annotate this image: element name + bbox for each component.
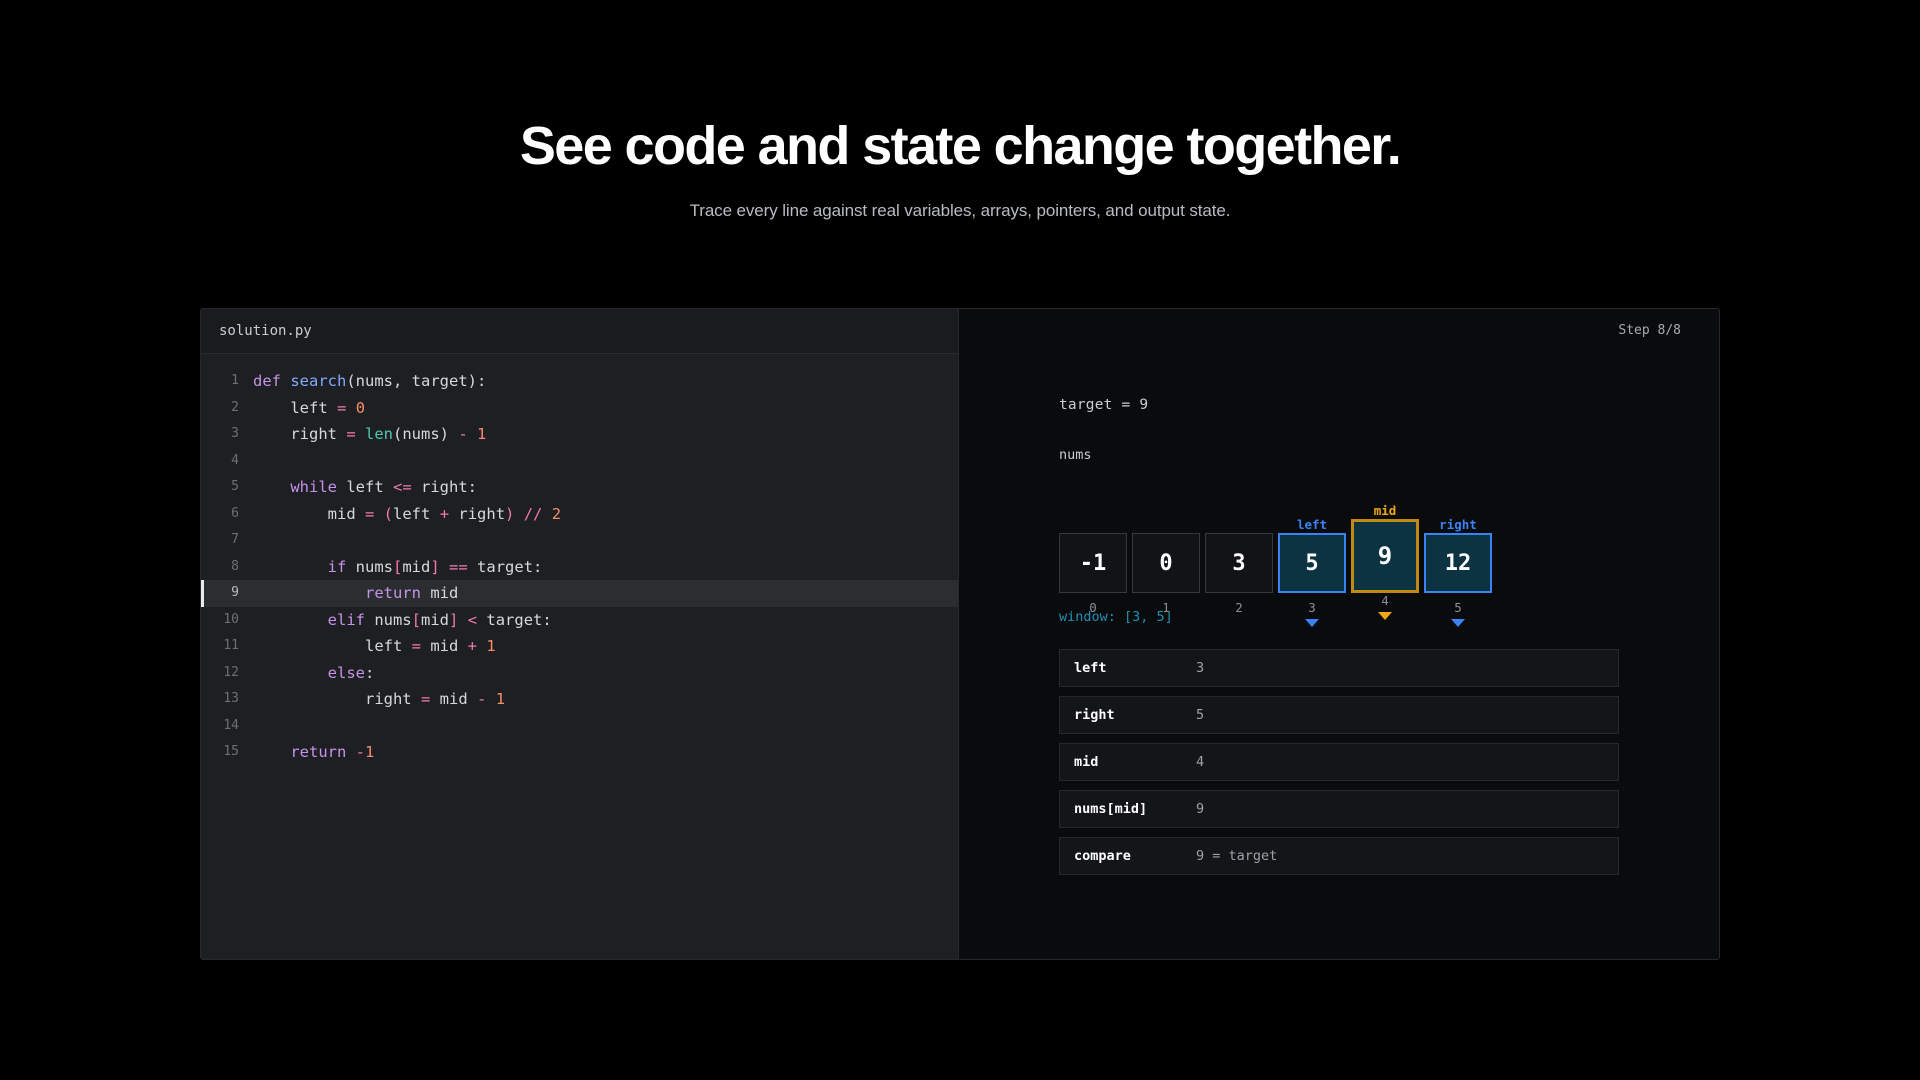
- array-cell-5[interactable]: right12: [1424, 516, 1492, 593]
- variable-name: mid: [1074, 754, 1196, 770]
- active-line-marker: [201, 686, 204, 713]
- index-label: 3: [1308, 600, 1316, 616]
- pointer-label-none: [1089, 516, 1097, 533]
- page-title: See code and state change together.: [0, 118, 1920, 175]
- code-text: return mid: [253, 580, 458, 607]
- line-number: 4: [201, 448, 253, 475]
- pointer-label-right: right: [1439, 516, 1477, 533]
- table-row: mid4: [1059, 743, 1619, 781]
- pointer-arrow-blue-icon: [1305, 619, 1319, 627]
- code-line[interactable]: 3 right = len(nums) - 1: [201, 421, 958, 448]
- index-label: 4: [1381, 593, 1389, 609]
- line-number: 9: [201, 580, 253, 607]
- code-text: while left <= right:: [253, 474, 477, 501]
- array-value: 12: [1424, 533, 1492, 593]
- variable-value: 4: [1196, 754, 1204, 770]
- variable-name: right: [1074, 707, 1196, 723]
- code-editor[interactable]: 1def search(nums, target):2 left = 03 ri…: [201, 354, 958, 959]
- pointer-arrow-blue-icon: [1451, 619, 1465, 627]
- line-number: 6: [201, 501, 253, 528]
- code-text: return -1: [253, 739, 374, 766]
- array-index-3: 3: [1278, 593, 1346, 627]
- array-index-2: 2: [1205, 593, 1273, 627]
- line-number: 2: [201, 395, 253, 422]
- line-number: 3: [201, 421, 253, 448]
- variable-value: 9 = target: [1196, 848, 1277, 864]
- variable-value: 9: [1196, 801, 1204, 817]
- active-line-marker: [201, 713, 204, 740]
- code-line[interactable]: 4: [201, 448, 958, 475]
- array-value: -1: [1059, 533, 1127, 593]
- array-cells-row: -1 0 3left5mid9right12: [1059, 477, 1619, 593]
- array-value: 5: [1278, 533, 1346, 593]
- code-text: def search(nums, target):: [253, 368, 486, 395]
- visualizer-app: solution.py 1def search(nums, target):2 …: [200, 308, 1720, 960]
- code-line[interactable]: 8 if nums[mid] == target:: [201, 554, 958, 581]
- array-index-0: 0: [1059, 593, 1127, 627]
- code-line[interactable]: 1def search(nums, target):: [201, 368, 958, 395]
- code-line[interactable]: 5 while left <= right:: [201, 474, 958, 501]
- array-value: 3: [1205, 533, 1273, 593]
- array-cell-2[interactable]: 3: [1205, 516, 1273, 593]
- hero-section: See code and state change together. Trac…: [0, 118, 1920, 221]
- table-row: left3: [1059, 649, 1619, 687]
- index-label: 1: [1162, 600, 1170, 616]
- array-value: 0: [1132, 533, 1200, 593]
- file-tab-solution-py[interactable]: solution.py: [219, 323, 312, 339]
- code-panel: solution.py 1def search(nums, target):2 …: [201, 309, 959, 959]
- code-text: right = mid - 1: [253, 686, 505, 713]
- pointer-label-left: left: [1297, 516, 1327, 533]
- code-text: mid = (left + right) // 2: [253, 501, 561, 528]
- array-cell-4[interactable]: mid9: [1351, 502, 1419, 593]
- active-line-marker: [201, 554, 204, 581]
- active-line-marker: [201, 501, 204, 528]
- line-number: 13: [201, 686, 253, 713]
- active-line-marker: [201, 395, 204, 422]
- active-line-marker: [201, 368, 204, 395]
- index-label: 2: [1235, 600, 1243, 616]
- page-root: See code and state change together. Trac…: [0, 0, 1920, 1080]
- code-line[interactable]: 11 left = mid + 1: [201, 633, 958, 660]
- line-number: 5: [201, 474, 253, 501]
- active-line-marker: [201, 421, 204, 448]
- index-label: 0: [1089, 600, 1097, 616]
- page-subtitle: Trace every line against real variables,…: [0, 201, 1920, 221]
- code-text: left = mid + 1: [253, 633, 496, 660]
- active-line-marker: [201, 660, 204, 687]
- array-index-1: 1: [1132, 593, 1200, 627]
- pointer-label-none: [1162, 516, 1170, 533]
- code-line[interactable]: 2 left = 0: [201, 395, 958, 422]
- active-line-marker: [201, 448, 204, 475]
- line-number: 10: [201, 607, 253, 634]
- code-text: else:: [253, 660, 374, 687]
- line-number: 8: [201, 554, 253, 581]
- target-readout: target = 9: [1059, 397, 1619, 413]
- file-tabbar: solution.py: [201, 309, 958, 354]
- active-line-marker: [201, 580, 204, 607]
- variable-value: 3: [1196, 660, 1204, 676]
- code-line[interactable]: 14: [201, 713, 958, 740]
- line-number: 14: [201, 713, 253, 740]
- code-text: left = 0: [253, 395, 365, 422]
- code-line[interactable]: 9 return mid: [201, 580, 958, 607]
- array-index-row: 012345: [1059, 593, 1619, 627]
- array-cell-0[interactable]: -1: [1059, 516, 1127, 593]
- table-row: compare9 = target: [1059, 837, 1619, 875]
- variable-name: left: [1074, 660, 1196, 676]
- table-row: nums[mid]9: [1059, 790, 1619, 828]
- active-line-marker: [201, 607, 204, 634]
- state-panel: Step 8/8 target = 9 nums -1 0 3left5mid9…: [959, 309, 1719, 959]
- variable-value: 5: [1196, 707, 1204, 723]
- code-text: elif nums[mid] < target:: [253, 607, 552, 634]
- array-visualizer: -1 0 3left5mid9right12 012345: [1059, 477, 1619, 593]
- pointer-label-none: [1235, 516, 1243, 533]
- step-counter: Step 8/8: [1618, 323, 1681, 338]
- pointer-label-mid: mid: [1374, 502, 1397, 519]
- variables-table: left3right5mid4nums[mid]9compare9 = targ…: [1059, 649, 1619, 875]
- variable-name: nums[mid]: [1074, 801, 1196, 817]
- line-number: 15: [201, 739, 253, 766]
- line-number: 1: [201, 368, 253, 395]
- table-row: right5: [1059, 696, 1619, 734]
- active-line-marker: [201, 633, 204, 660]
- array-label: nums: [1059, 447, 1619, 463]
- active-line-marker: [201, 739, 204, 766]
- array-index-5: 5: [1424, 593, 1492, 627]
- code-line[interactable]: 10 elif nums[mid] < target:: [201, 607, 958, 634]
- code-text: right = len(nums) - 1: [253, 421, 486, 448]
- array-value: 9: [1351, 519, 1419, 593]
- variable-name: compare: [1074, 848, 1196, 864]
- pointer-arrow-amber-icon: [1378, 612, 1392, 620]
- code-line[interactable]: 13 right = mid - 1: [201, 686, 958, 713]
- array-cell-1[interactable]: 0: [1132, 516, 1200, 593]
- array-cell-3[interactable]: left5: [1278, 516, 1346, 593]
- active-line-marker: [201, 474, 204, 501]
- index-label: 5: [1454, 600, 1462, 616]
- code-line[interactable]: 7: [201, 527, 958, 554]
- array-index-4: 4: [1351, 593, 1419, 627]
- code-line[interactable]: 15 return -1: [201, 739, 958, 766]
- line-number: 12: [201, 660, 253, 687]
- line-number: 11: [201, 633, 253, 660]
- line-number: 7: [201, 527, 253, 554]
- code-line[interactable]: 12 else:: [201, 660, 958, 687]
- code-line[interactable]: 6 mid = (left + right) // 2: [201, 501, 958, 528]
- code-text: if nums[mid] == target:: [253, 554, 542, 581]
- active-line-marker: [201, 527, 204, 554]
